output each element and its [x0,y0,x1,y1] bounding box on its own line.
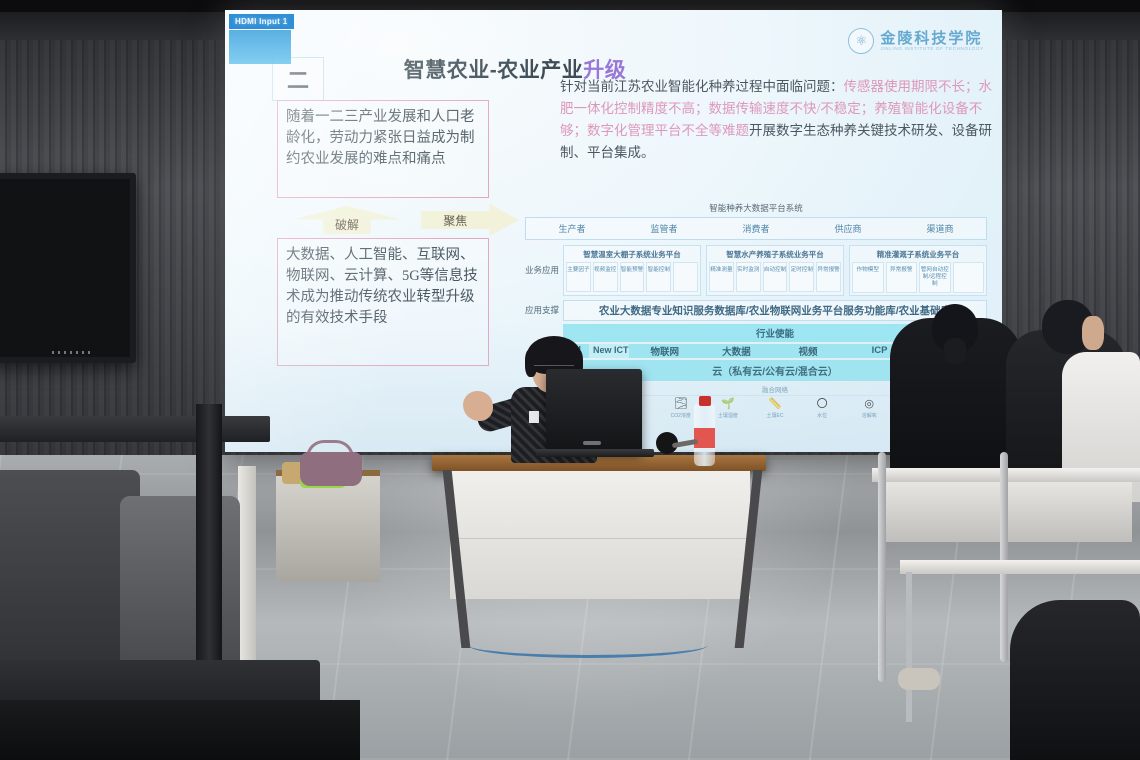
business-group: 智慧水产养殖子系统业务平台 精准测量 实时监测 自动控制 定时控制 异常报警 [706,245,844,296]
business-group-title: 智慧温室大棚子系统业务平台 [566,249,698,260]
foreground-bottom-bar [0,700,360,760]
hdmi-badge-backdrop [229,30,291,64]
business-item [953,262,985,293]
business-item: 定时控制 [789,262,814,292]
stakeholder-item: 消费者 [710,222,802,235]
student-foreground [1010,600,1140,760]
student-ponytail [944,338,966,364]
business-groups: 智慧温室大棚子系统业务平台 主要因子 视频监控 智能预警 智能控制 智慧水产养殖… [563,245,987,296]
insight-box-technology: 大数据、人工智能、互联网、物联网、云计算、5G等信息技术成为推动传统农业转型升级… [277,238,489,366]
lectern-desk-front [450,471,750,599]
business-layer-label: 业务应用 [525,245,559,296]
stakeholder-item: 监管者 [618,222,710,235]
business-item: 精准测量 [709,262,734,292]
institution-name-cn: 金陵科技学院 [880,31,984,47]
sensor-item: 〇 水位 [799,399,846,419]
institution-logo-text: 金陵科技学院 JINLING INSTITUTE OF TECHNOLOGY [880,31,984,51]
floor-cable [468,632,708,658]
arrow-up-label: 破解 [293,206,401,234]
slide-title-main: 智慧农业-农业产业 [404,59,584,82]
laptop-base [536,449,654,457]
ict-item: 大数据 [701,344,773,358]
business-item [673,262,698,292]
business-item: 视频监控 [593,262,618,292]
student-face [1082,316,1104,350]
chair-leg [906,572,912,722]
lectern-panel-seam [450,538,750,539]
stakeholder-item: 渠道商 [894,222,986,235]
presenter-hand [463,391,493,421]
university-crest-icon: ⚛ [848,28,874,54]
business-item: 异常报警 [816,262,841,292]
stakeholder-item: 生产者 [526,222,618,235]
sensor-item: ◎ 溶解氧 [846,399,893,419]
handbag [300,452,362,486]
hdmi-input-badge: HDMI Input 1 [229,14,294,29]
soil-moisture-icon: 🌱 [721,399,735,410]
business-group-items: 精准测量 实时监测 自动控制 定时控制 异常报警 [709,262,841,292]
soil-ec-icon: 📏 [768,399,782,410]
classroom-photo: HDMI Input 1 二 智慧农业-农业产业升级 ⚛ 金陵科技学院 JINL… [0,0,1140,760]
bottle-label [694,428,715,448]
sensor-label: 溶解氧 [862,412,877,419]
stakeholder-row: 生产者 监管者 消费者 供应商 渠道商 [525,217,987,240]
insight-box-demographics: 随着一二三产业发展和人口老龄化，劳动力紧张日益成为制约农业发展的难点和痛点 [277,100,489,198]
ict-item: 视频 [772,344,844,358]
arrow-up-breakthrough: 破解 [293,206,401,234]
business-item: 智能预警 [620,262,645,292]
water-level-icon: 〇 [817,399,828,410]
institution-name-en: JINLING INSTITUTE OF TECHNOLOGY [880,47,984,52]
student-shoe [898,668,940,690]
sensor-label: 水位 [817,412,827,419]
business-item: 自动控制 [763,262,788,292]
problem-statement-paragraph: 针对当前江苏农业智能化种养过程中面临问题：传感器使用期限不长；水肥一体化控制精度… [560,76,992,163]
sensor-label: CO2浓度 [671,412,691,419]
business-group-items: 主要因子 视频监控 智能预警 智能控制 [566,262,698,292]
business-group-items: 作物模型 异常报警 管网自动控制/远程控制 [852,262,984,293]
wall-mounted-display [0,173,136,363]
sensor-label: 土壤EC [767,412,784,419]
business-item: 实时监测 [736,262,761,292]
business-group-title: 精准灌溉子系统业务平台 [852,249,984,260]
business-item: 主要因子 [566,262,591,292]
support-layer: 应用支撑 农业大数据专业知识服务数据库/农业物联网业务平台服务功能库/农业基础库 [525,300,987,321]
sensor-item: 📏 土壤EC [751,399,798,419]
paragraph-lead: 针对当前江苏农业智能化种养过程中面临问题： [560,79,844,94]
foreground-desk-top [0,416,270,442]
business-group-title: 智慧水产养殖子系统业务平台 [709,249,841,260]
chair-rail [878,452,886,682]
laptop-hinge [583,441,601,445]
arrow-right-focus: 聚焦 [421,204,519,236]
co2-icon: 🌫 [674,399,688,410]
bottle-cap [699,396,711,406]
sensor-label: 土壤湿度 [718,412,738,419]
business-application-layer: 业务应用 智慧温室大棚子系统业务平台 主要因子 视频监控 智能预警 智能控制 [525,245,987,296]
business-item: 作物模型 [852,262,884,293]
student-desk-top [900,560,1140,574]
display-indicator-dots [52,351,92,354]
business-item: 异常报警 [886,262,918,293]
ict-item: 物联网 [629,344,701,358]
diagram-title: 智能种养大数据平台系统 [525,202,987,214]
business-group: 智慧温室大棚子系统业务平台 主要因子 视频监控 智能预警 智能控制 [563,245,701,296]
support-layer-label: 应用支撑 [525,300,559,321]
institution-logo: ⚛ 金陵科技学院 JINLING INSTITUTE OF TECHNOLOGY [848,28,984,54]
arrow-right-label: 聚焦 [421,204,490,236]
business-group: 精准灌溉子系统业务平台 作物模型 异常报警 管网自动控制/远程控制 [849,245,987,296]
business-item: 智能控制 [646,262,671,292]
dissolved-oxygen-icon: ◎ [864,399,874,410]
business-item: 管网自动控制/远程控制 [919,262,951,293]
stakeholder-item: 供应商 [802,222,894,235]
chair-rail [1000,452,1008,662]
presenter-badge [529,411,539,423]
